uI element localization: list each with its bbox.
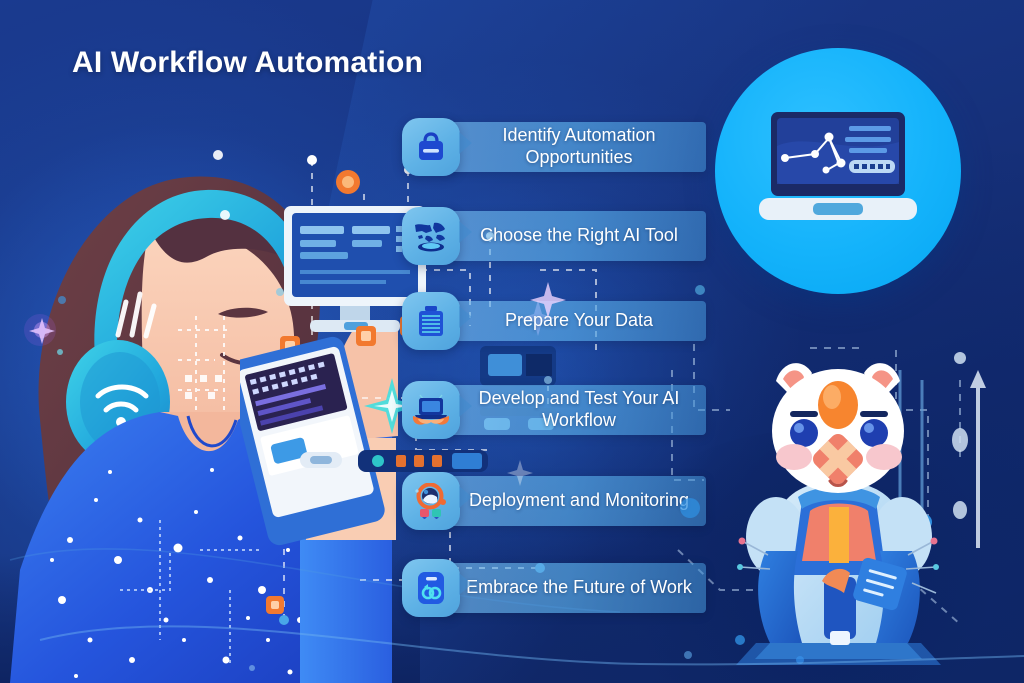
step-bar-6[interactable]: Embrace the Future of Work xyxy=(444,563,706,613)
orange-ring-monitor-icon[interactable] xyxy=(402,472,460,530)
document-stack-icon[interactable] xyxy=(402,292,460,350)
infographic-canvas: AI Workflow Automation Identify Automati… xyxy=(0,0,1024,683)
list-item[interactable]: Develop and Test Your AI Workflow xyxy=(402,367,712,455)
infinity-loop-icon[interactable] xyxy=(402,559,460,617)
list-item[interactable]: Identify Automation Opportunities xyxy=(402,118,712,184)
step-label-4: Develop and Test Your AI Workflow xyxy=(462,388,696,430)
shopping-bag-icon[interactable] xyxy=(402,118,460,176)
step-bar-3[interactable]: Prepare Your Data xyxy=(444,301,706,341)
page-title: AI Workflow Automation xyxy=(72,46,423,80)
laptop-chart-icon xyxy=(753,106,923,236)
step-bar-4[interactable]: Develop and Test Your AI Workflow xyxy=(444,385,706,435)
list-item[interactable]: Embrace the Future of Work xyxy=(402,547,712,625)
list-item[interactable]: Choose the Right AI Tool xyxy=(402,189,712,273)
list-item[interactable]: Deployment and Monitoring xyxy=(402,460,712,542)
laptop-in-hands-icon[interactable] xyxy=(402,381,460,439)
list-item[interactable]: Prepare Your Data xyxy=(402,278,712,362)
step-bar-1[interactable]: Identify Automation Opportunities xyxy=(444,122,706,172)
step-bar-5[interactable]: Deployment and Monitoring xyxy=(444,476,706,526)
step-label-5: Deployment and Monitoring xyxy=(462,490,696,511)
laptop-network-diagram-circle xyxy=(715,48,961,294)
white-cat-robot xyxy=(736,355,941,665)
step-label-3: Prepare Your Data xyxy=(462,310,696,331)
step-label-6: Embrace the Future of Work xyxy=(462,577,696,598)
steps-list: Identify Automation Opportunities Choose… xyxy=(402,118,712,630)
step-label-1: Identify Automation Opportunities xyxy=(462,125,696,167)
step-bar-2[interactable]: Choose the Right AI Tool xyxy=(444,211,706,261)
world-map-icon[interactable] xyxy=(402,207,460,265)
step-label-2: Choose the Right AI Tool xyxy=(462,225,696,246)
